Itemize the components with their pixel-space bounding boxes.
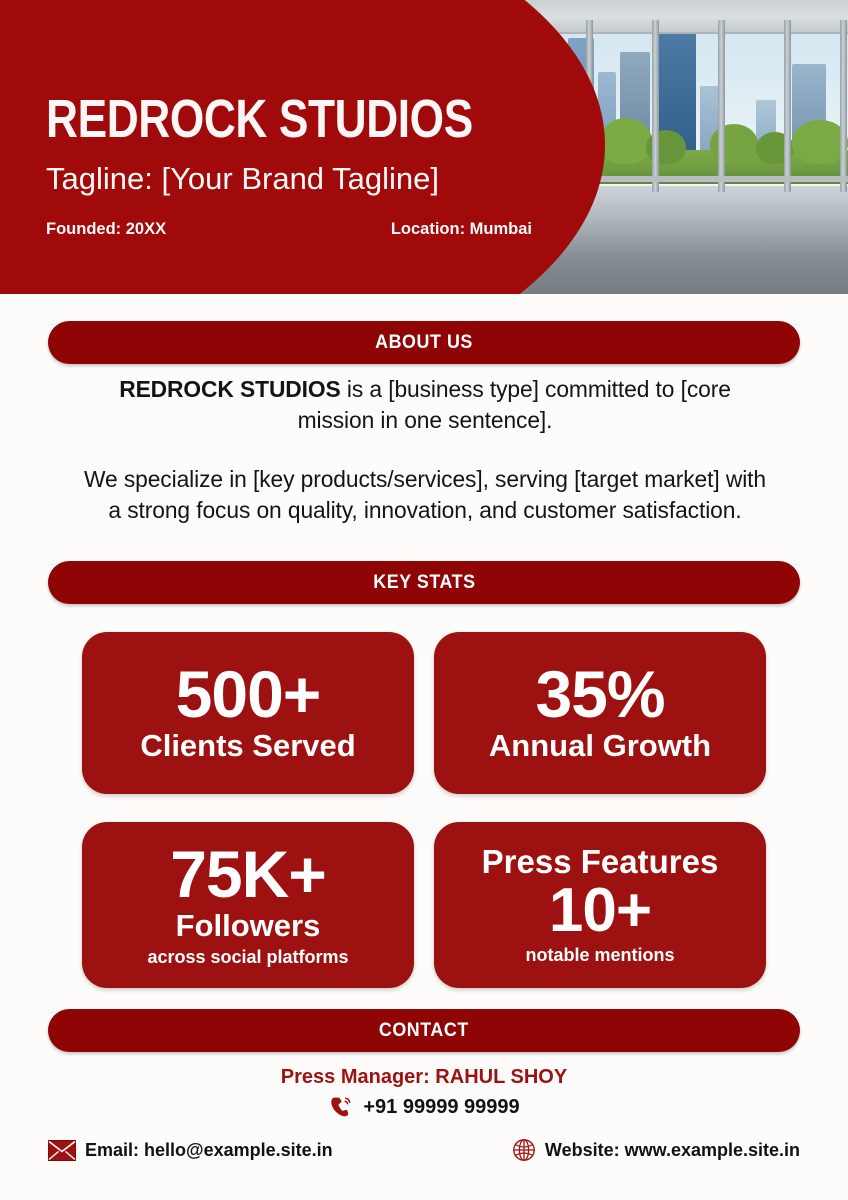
- about-paragraph-2: We specialize in [key products/services]…: [81, 464, 770, 526]
- press-manager-text: Press Manager: RAHUL SHOY: [0, 1066, 848, 1089]
- about-paragraph-1: REDROCK STUDIOS is a [business type] com…: [81, 374, 770, 436]
- stat-card-followers: 75K+ Followers across social platforms: [82, 822, 414, 988]
- brand-tagline: Tagline: [Your Brand Tagline]: [46, 160, 439, 197]
- section-header-key-stats: KEY STATS: [48, 561, 800, 604]
- globe-icon: [512, 1138, 536, 1162]
- about-us-body: REDROCK STUDIOS is a [business type] com…: [70, 374, 780, 526]
- about-company-name: REDROCK STUDIOS: [119, 376, 340, 402]
- stat-label: Followers: [176, 909, 321, 944]
- contact-heading: CONTACT: [379, 1020, 469, 1042]
- phone-row[interactable]: +91 99999 99999: [0, 1094, 848, 1120]
- stat-sublabel: notable mentions: [525, 945, 674, 966]
- phone-number: +91 99999 99999: [363, 1096, 519, 1119]
- brand-title: REDROCK STUDIOS: [46, 92, 473, 146]
- email-chip[interactable]: Email: hello@example.site.in: [48, 1140, 333, 1161]
- about-us-heading: ABOUT US: [375, 332, 473, 354]
- stat-number: 35%: [535, 662, 664, 727]
- header-banner: REDROCK STUDIOS Tagline: [Your Brand Tag…: [0, 0, 848, 294]
- media-kit-page: REDROCK STUDIOS Tagline: [Your Brand Tag…: [0, 0, 848, 1200]
- stat-card-press-features: Press Features 10+ notable mentions: [434, 822, 766, 988]
- stat-sublabel: across social platforms: [147, 947, 348, 968]
- stat-number: 10+: [549, 881, 651, 942]
- stat-card-clients: 500+ Clients Served: [82, 632, 414, 794]
- key-stats-heading: KEY STATS: [373, 572, 475, 594]
- contact-bottom-row: Email: hello@example.site.in Website: ww…: [48, 1138, 800, 1162]
- section-header-about-us: ABOUT US: [48, 321, 800, 364]
- about-paragraph-1-rest: is a [business type] committed to [core …: [298, 376, 731, 433]
- website-text: Website: www.example.site.in: [545, 1140, 800, 1161]
- envelope-icon: [48, 1140, 76, 1161]
- stat-number: 75K+: [170, 842, 326, 907]
- stat-card-growth: 35% Annual Growth: [434, 632, 766, 794]
- header-meta-row: Founded: 20XX Location: Mumbai: [46, 220, 546, 239]
- stat-label: Clients Served: [140, 729, 355, 764]
- email-text: Email: hello@example.site.in: [85, 1140, 333, 1161]
- location-text: Location: Mumbai: [391, 220, 532, 239]
- website-chip[interactable]: Website: www.example.site.in: [512, 1138, 800, 1162]
- founded-text: Founded: 20XX: [46, 220, 166, 239]
- stat-number: 500+: [176, 662, 321, 727]
- section-header-contact: CONTACT: [48, 1009, 800, 1052]
- header-content: REDROCK STUDIOS Tagline: [Your Brand Tag…: [0, 0, 620, 294]
- phone-icon: [328, 1094, 354, 1120]
- stat-label: Annual Growth: [489, 729, 711, 764]
